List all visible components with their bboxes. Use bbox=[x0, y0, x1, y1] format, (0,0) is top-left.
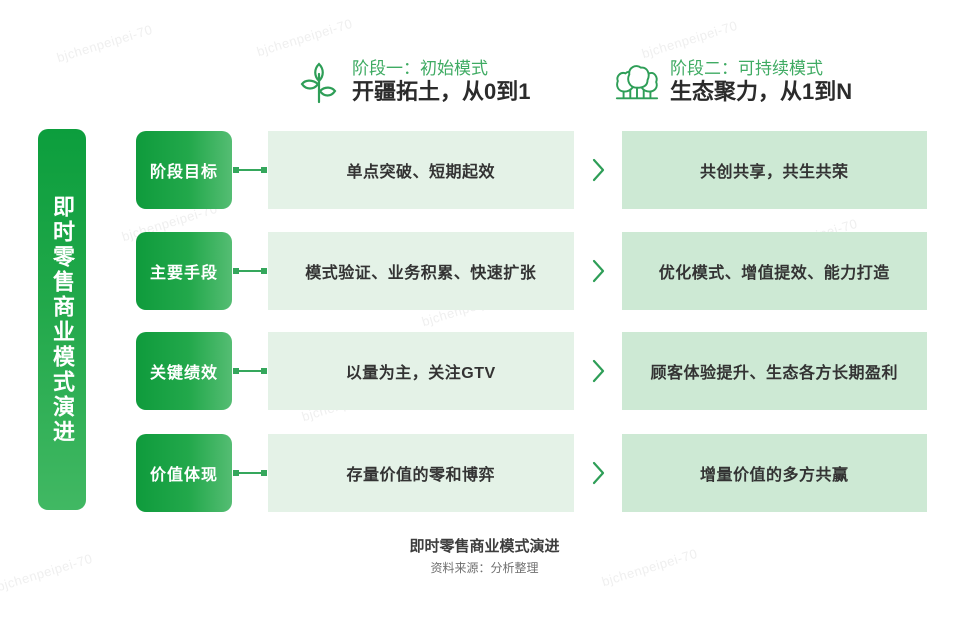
chevron-right-icon bbox=[574, 131, 622, 209]
row-label-3: 价值体现 bbox=[136, 434, 232, 512]
row-connector bbox=[232, 332, 268, 410]
figure-title: 即时零售商业模式演进 bbox=[0, 536, 969, 559]
row-3-phase-1-cell: 存量价值的零和博弈 bbox=[268, 434, 574, 512]
row-1-phase-2-cell: 优化模式、增值提效、能力打造 bbox=[622, 232, 928, 310]
vertical-title-text: 即时零售商业模式演进 bbox=[51, 195, 73, 445]
figure-caption: 即时零售商业模式演进 资料来源：分析整理 bbox=[0, 536, 969, 578]
row-1-phase-1-cell: 模式验证、业务积累、快速扩张 bbox=[268, 232, 574, 310]
table-row: 关键绩效 以量为主，关注GTV 顾客体验提升、生态各方长期盈利 bbox=[136, 332, 927, 410]
forest-trees-icon bbox=[614, 58, 660, 106]
row-connector bbox=[232, 131, 268, 209]
phase-2-header: 阶段二：可持续模式 生态聚力，从1到N bbox=[614, 58, 852, 106]
phase-2-title: 生态聚力，从1到N bbox=[670, 79, 852, 105]
phase-2-kicker: 阶段二：可持续模式 bbox=[670, 59, 852, 79]
row-3-phase-2-cell: 增量价值的多方共赢 bbox=[622, 434, 928, 512]
chevron-right-icon bbox=[574, 332, 622, 410]
phase-1-header-text: 阶段一：初始模式 开疆拓土，从0到1 bbox=[352, 59, 530, 106]
phase-2-header-text: 阶段二：可持续模式 生态聚力，从1到N bbox=[670, 59, 852, 106]
phase-1-kicker: 阶段一：初始模式 bbox=[352, 59, 530, 79]
row-connector bbox=[232, 232, 268, 310]
row-label-0: 阶段目标 bbox=[136, 131, 232, 209]
table-row: 阶段目标 单点突破、短期起效 共创共享，共生共荣 bbox=[136, 131, 927, 209]
row-2-phase-1-cell: 以量为主，关注GTV bbox=[268, 332, 574, 410]
vertical-title-bar: 即时零售商业模式演进 bbox=[38, 129, 86, 510]
row-connector bbox=[232, 434, 268, 512]
table-row: 主要手段 模式验证、业务积累、快速扩张 优化模式、增值提效、能力打造 bbox=[136, 232, 927, 310]
chevron-right-icon bbox=[574, 232, 622, 310]
diagram-stage: 阶段一：初始模式 开疆拓土，从0到1 阶段二：可持续模式 生态聚力，从1到N 即… bbox=[0, 0, 969, 629]
sprout-icon bbox=[296, 58, 342, 106]
phase-1-header: 阶段一：初始模式 开疆拓土，从0到1 bbox=[296, 58, 530, 106]
figure-source: 资料来源：分析整理 bbox=[0, 559, 969, 578]
row-2-phase-2-cell: 顾客体验提升、生态各方长期盈利 bbox=[622, 332, 928, 410]
row-label-2: 关键绩效 bbox=[136, 332, 232, 410]
phase-1-title: 开疆拓土，从0到1 bbox=[352, 79, 530, 105]
row-label-1: 主要手段 bbox=[136, 232, 232, 310]
chevron-right-icon bbox=[574, 434, 622, 512]
table-row: 价值体现 存量价值的零和博弈 增量价值的多方共赢 bbox=[136, 434, 927, 512]
row-0-phase-2-cell: 共创共享，共生共荣 bbox=[622, 131, 928, 209]
row-0-phase-1-cell: 单点突破、短期起效 bbox=[268, 131, 574, 209]
